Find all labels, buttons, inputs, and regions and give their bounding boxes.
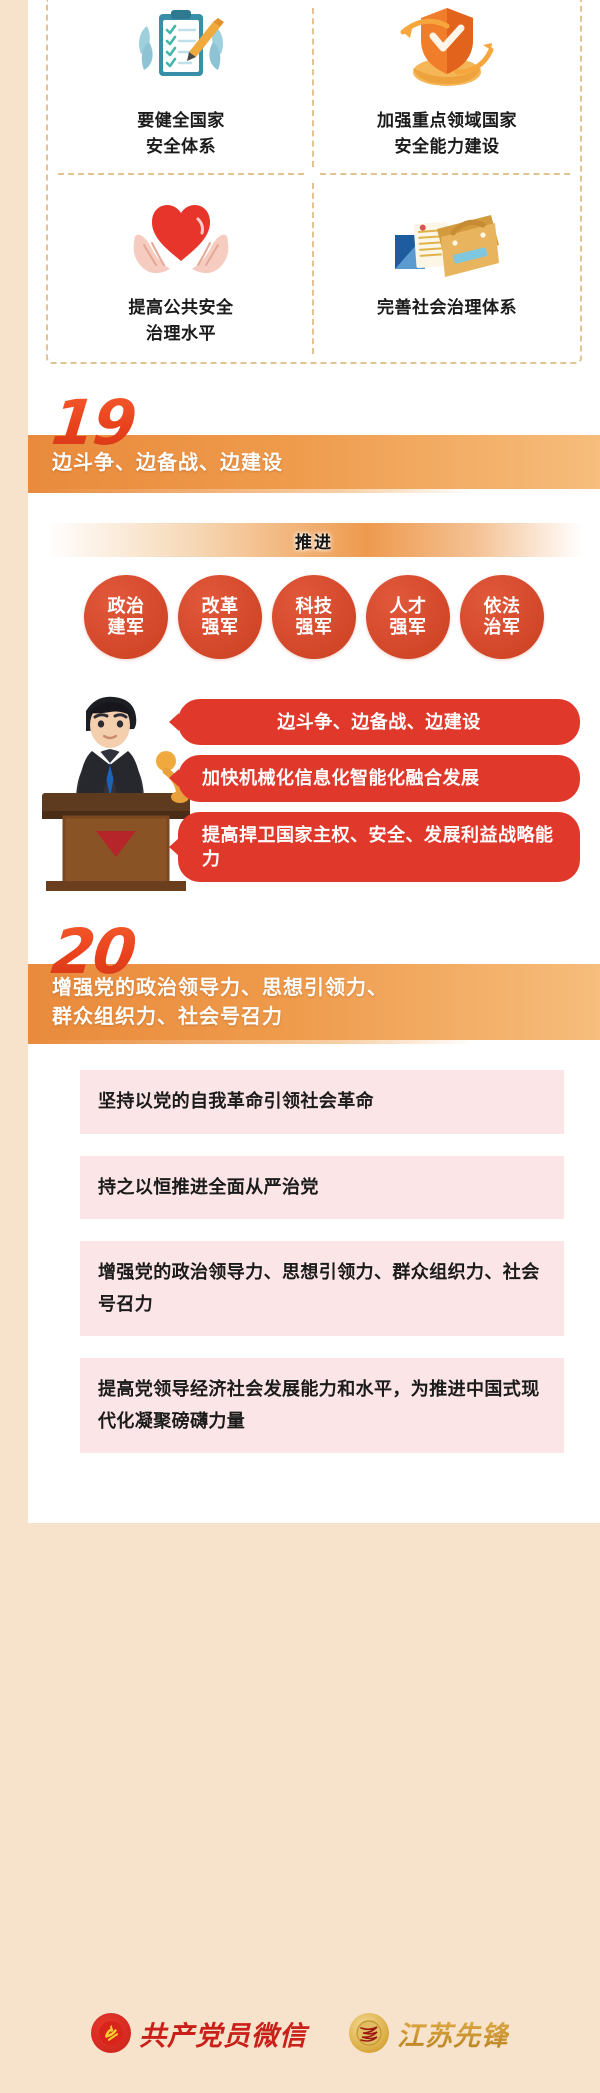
item-box: 提高党领导经济社会发展能力和水平，为推进中国式现代化凝聚磅礴力量 (80, 1358, 564, 1453)
pillar-circle-talent[interactable]: 人才 强军 (366, 575, 450, 659)
party-emblem-icon (91, 2013, 131, 2053)
pillar-line-2: 治军 (484, 617, 521, 638)
section-19-banner-underline (28, 489, 474, 493)
item-box: 增强党的政治领导力、思想引领力、群众组织力、社会号召力 (80, 1241, 564, 1336)
grid-cell-label: 完善社会治理体系 (377, 295, 517, 321)
pillar-line-1: 政治 (108, 596, 145, 617)
footer-logos: 共产党员微信 江苏先锋 (0, 1973, 600, 2093)
podium-and-points: 边斗争、边备战、边建设 加快机械化信息化智能化融合发展 提高捍卫国家主权、安全、… (28, 681, 600, 893)
section-20-items: 坚持以党的自我革命引领社会革命 持之以恒推进全面从严治党 增强党的政治领导力、思… (80, 1070, 564, 1453)
point-pill: 提高捍卫国家主权、安全、发展利益战略能力 (178, 812, 580, 883)
heart-in-hands-icon (126, 199, 236, 285)
pillar-line-1: 依法 (484, 596, 521, 617)
grid-cell-label: 加强重点领域国家 安全能力建设 (377, 108, 517, 159)
pillar-line-1: 人才 (390, 596, 427, 617)
item-box: 持之以恒推进全面从严治党 (80, 1156, 564, 1220)
banner-title-line-2: 群众组织力、社会号召力 (52, 1002, 388, 1031)
pillar-circle-technology[interactable]: 科技 强军 (272, 575, 356, 659)
grid-cell-national-security-system: 要健全国家 安全体系 (48, 0, 314, 175)
pillar-line-2: 强军 (202, 617, 239, 638)
section-19-number: 19 (49, 398, 137, 449)
promote-ribbon: 推进 (46, 523, 582, 557)
dashed-grid-box: 要健全国家 安全体系 (46, 0, 582, 364)
logo-label: 江苏先锋 (397, 2014, 509, 2053)
jiangsu-xianfeng-emblem-icon (349, 2013, 389, 2053)
logo-gongchandangyuan-weixin[interactable]: 共产党员微信 (91, 2013, 307, 2053)
point-pill: 加快机械化信息化智能化融合发展 (178, 755, 580, 801)
section-20-number: 20 (49, 927, 137, 978)
grid-cell-label: 提高公共安全 治理水平 (129, 295, 234, 346)
pillar-circle-political[interactable]: 政治 建军 (84, 575, 168, 659)
grid-cell-key-field-capability: 加强重点领域国家 安全能力建设 (314, 0, 580, 175)
clipboard-checklist-icon (133, 6, 229, 98)
pillar-line-1: 科技 (296, 596, 333, 617)
section-19: 19 边斗争、边备战、边建设 推进 政治 建军 改革 强军 (28, 398, 600, 893)
content-sheet: 要健全国家 安全体系 (28, 0, 600, 1523)
pillar-line-1: 改革 (202, 596, 239, 617)
section-20-banner-underline (28, 1040, 474, 1044)
logo-label: 共产党员微信 (139, 2014, 307, 2053)
grid-cell-public-safety-governance: 提高公共安全 治理水平 (48, 175, 314, 362)
item-box: 坚持以党的自我革命引领社会革命 (80, 1070, 564, 1134)
point-pill: 边斗争、边备战、边建设 (178, 699, 580, 745)
section-20: 20 增强党的政治领导力、思想引领力、 群众组织力、社会号召力 坚持以党的自我革… (28, 927, 600, 1453)
sheet-bottom-spacer (28, 1453, 600, 1523)
section-19-points: 边斗争、边备战、边建设 加快机械化信息化智能化融合发展 提高捍卫国家主权、安全、… (178, 681, 580, 882)
pillar-line-2: 建军 (108, 617, 145, 638)
grid-cell-label: 要健全国家 安全体系 (137, 108, 225, 159)
pillar-circle-reform[interactable]: 改革 强军 (178, 575, 262, 659)
shield-trophy-icon (395, 6, 499, 98)
security-grid-section: 要健全国家 安全体系 (46, 0, 582, 364)
pillar-line-2: 强军 (296, 617, 333, 638)
grid-cell-social-governance-system: 完善社会治理体系 (314, 175, 580, 362)
pillar-line-2: 强军 (390, 617, 427, 638)
army-pillars-row: 政治 建军 改革 强军 科技 强军 人才 强军 依法 治军 (38, 575, 590, 659)
infographic-page: 要健全国家 安全体系 (0, 0, 600, 2093)
logo-jiangsu-xianfeng[interactable]: 江苏先锋 (349, 2013, 509, 2053)
pillar-circle-rule-of-law[interactable]: 依法 治军 (460, 575, 544, 659)
promote-label: 推进 (295, 528, 333, 553)
briefcase-documents-icon (391, 199, 503, 285)
